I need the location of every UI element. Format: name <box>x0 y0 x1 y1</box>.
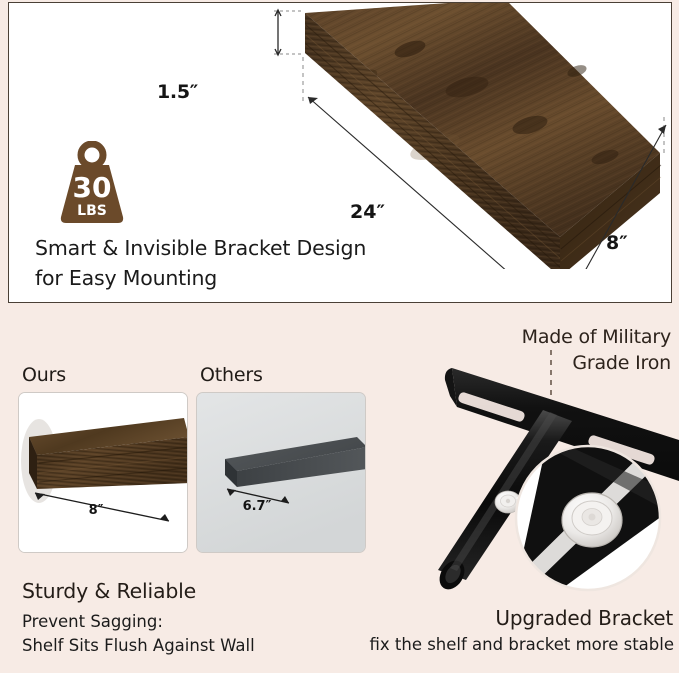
military-callout-line1: Made of Military <box>371 324 671 350</box>
comparison-box-ours: 8″ <box>18 392 188 553</box>
sturdy-subtext-line2: Shelf Sits Flush Against Wall <box>22 634 255 658</box>
ours-dimension-text: 8″ <box>89 503 104 518</box>
dimension-thickness: 1.5″ <box>157 81 198 103</box>
comparison-label-ours: Ours <box>22 364 66 386</box>
weight-capacity-badge: 30 LBS <box>53 141 131 227</box>
comparison-box-others: 6.7″ <box>196 392 366 553</box>
upgraded-bracket-subtitle: fix the shelf and bracket more stable <box>369 635 674 654</box>
sturdy-title: Sturdy & Reliable <box>22 579 196 603</box>
bracket-illustration <box>400 348 679 628</box>
sturdy-subtext-line1: Prevent Sagging: <box>22 610 255 634</box>
upgraded-bracket-title: Upgraded Bracket <box>495 606 673 630</box>
top-headline-line2: for Easy Mounting <box>35 263 515 293</box>
sturdy-subtext: Prevent Sagging: Shelf Sits Flush Agains… <box>22 610 255 658</box>
wooden-shelf-illustration <box>205 2 672 269</box>
dimension-depth: 8″ <box>606 232 628 254</box>
product-infographic: 1.5″ 24″ 8″ 30 LBS Smart & Invisible Bra… <box>0 0 679 673</box>
top-headline-line1: Smart & Invisible Bracket Design <box>35 233 515 263</box>
weight-unit-text: LBS <box>77 203 107 219</box>
dimension-length: 24″ <box>350 201 385 223</box>
bottom-section: Ours Others <box>0 308 679 673</box>
weight-value-text: 30 <box>73 171 112 204</box>
others-dimension-text: 6.7″ <box>243 499 272 514</box>
top-feature-card: 1.5″ 24″ 8″ 30 LBS Smart & Invisible Bra… <box>8 2 672 303</box>
top-headline: Smart & Invisible Bracket Design for Eas… <box>35 233 515 293</box>
comparison-label-others: Others <box>200 364 263 386</box>
